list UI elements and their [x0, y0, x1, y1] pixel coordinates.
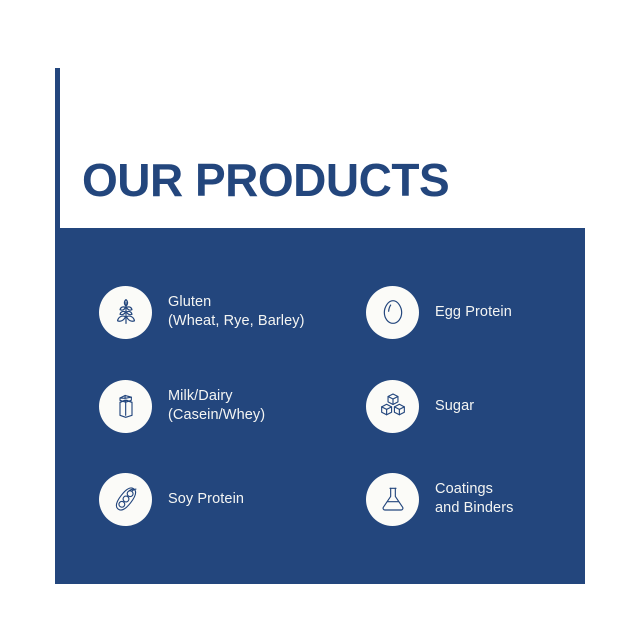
soybean-pod-icon — [99, 473, 152, 526]
list-item-label: Gluten(Wheat, Rye, Barley) — [168, 293, 305, 331]
list-item-sugar: Sugar — [366, 378, 474, 434]
sugar-cubes-icon — [366, 380, 419, 433]
flask-icon — [366, 473, 419, 526]
label-line-1: Sugar — [435, 398, 474, 414]
label-line-2: and Binders — [435, 500, 514, 516]
list-item-label: Milk/Dairy(Casein/Whey) — [168, 387, 265, 425]
list-item-coatings-and-binders: Coatingsand Binders — [366, 471, 514, 527]
list-item-label: Coatingsand Binders — [435, 480, 514, 518]
list-item-egg-protein: Egg Protein — [366, 284, 512, 340]
list-item-soy-protein: Soy Protein — [99, 471, 244, 527]
label-line-1: Coatings — [435, 481, 493, 497]
wheat-icon — [99, 286, 152, 339]
free-of-grid: Gluten(Wheat, Rye, Barley) Egg Protein — [55, 228, 585, 584]
egg-icon — [366, 286, 419, 339]
label-line-1: Gluten — [168, 294, 211, 310]
label-line-2: (Wheat, Rye, Barley) — [168, 313, 305, 329]
label-line-1: Milk/Dairy — [168, 388, 233, 404]
heading-line-1: OUR PRODUCTS — [82, 158, 449, 202]
label-line-1: Egg Protein — [435, 304, 512, 320]
milk-carton-icon — [99, 380, 152, 433]
list-item-label: Egg Protein — [435, 303, 512, 322]
label-line-2: (Casein/Whey) — [168, 407, 265, 423]
list-item-label: Sugar — [435, 397, 474, 416]
label-line-1: Soy Protein — [168, 491, 244, 507]
list-item-gluten: Gluten(Wheat, Rye, Barley) — [99, 284, 305, 340]
list-item-milk-dairy: Milk/Dairy(Casein/Whey) — [99, 378, 265, 434]
list-item-label: Soy Protein — [168, 490, 244, 509]
free-of-panel: Gluten(Wheat, Rye, Barley) Egg Protein — [55, 228, 585, 584]
poster-page: OUR PRODUCTS ARE FREE OF... — [0, 0, 640, 640]
